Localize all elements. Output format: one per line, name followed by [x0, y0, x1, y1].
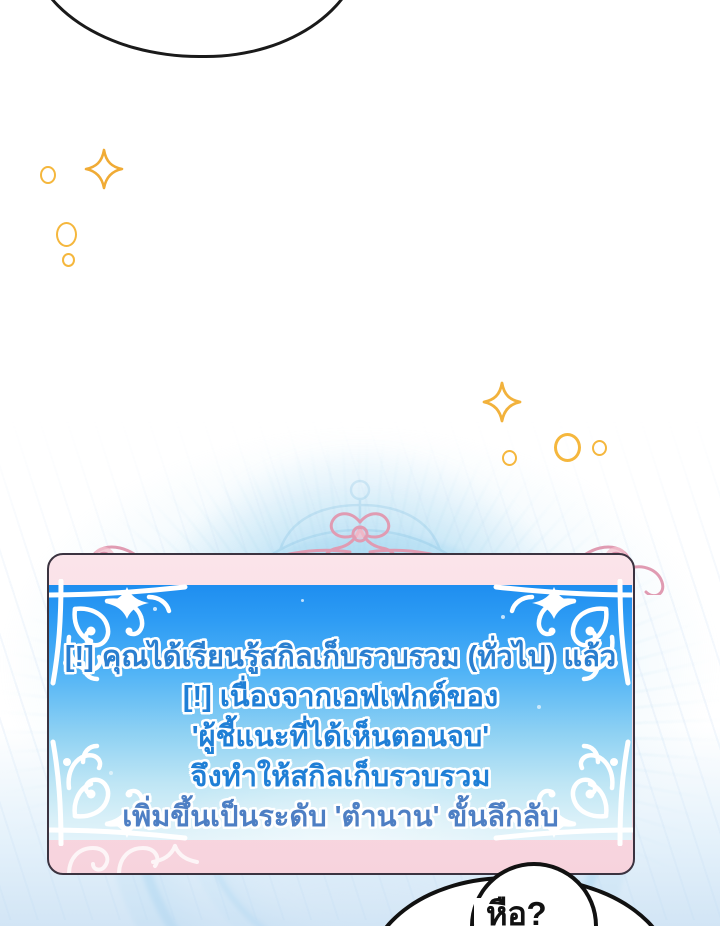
system-panel-line-5: เพิ่มขึ้นเป็นระดับ 'ตำนาน' ขั้นลึกลับ	[49, 797, 632, 837]
bubble-circle-3	[62, 253, 75, 267]
system-panel-line-2: [!] เนื่องจากเอฟเฟกต์ของ	[49, 677, 632, 717]
bubble-circle-1	[40, 166, 56, 184]
system-panel-line-1: [!] คุณได้เรียนรู้สกิลเก็บรวบรวม (ทั่วไป…	[49, 637, 632, 677]
panel-bottom-band-filigree	[55, 834, 295, 875]
system-panel-body: [!] คุณได้เรียนรู้สกิลเก็บรวบรวม (ทั่วไป…	[49, 585, 632, 840]
panel-sparkle-dot	[153, 607, 157, 611]
system-notification-panel: [!] คุณได้เรียนรู้สกิลเก็บรวบรวม (ทั่วไป…	[47, 553, 635, 875]
background-top-whitewash	[0, 0, 720, 330]
panel-sparkle-dot	[501, 615, 505, 619]
system-panel-text-block: [!] คุณได้เรียนรู้สกิลเก็บรวบรวม (ทั่วไป…	[49, 637, 632, 837]
bubble-circle-6	[502, 450, 517, 466]
system-panel-line-3: 'ผู้ชี้แนะที่ได้เห็นตอนจบ'	[49, 717, 632, 757]
bottom-speech-bubble-text: หือ?	[366, 897, 666, 926]
bubble-circle-5	[592, 440, 607, 456]
comic-page: [!] คุณได้เรียนรู้สกิลเก็บรวบรวม (ทั่วไป…	[0, 0, 720, 926]
bubble-circle-4	[554, 433, 581, 462]
system-panel-line-4: จึงทำให้สกิลเก็บรวบรวม	[49, 757, 632, 797]
bubble-circle-2	[56, 222, 77, 247]
panel-sparkle-dot	[301, 599, 304, 602]
